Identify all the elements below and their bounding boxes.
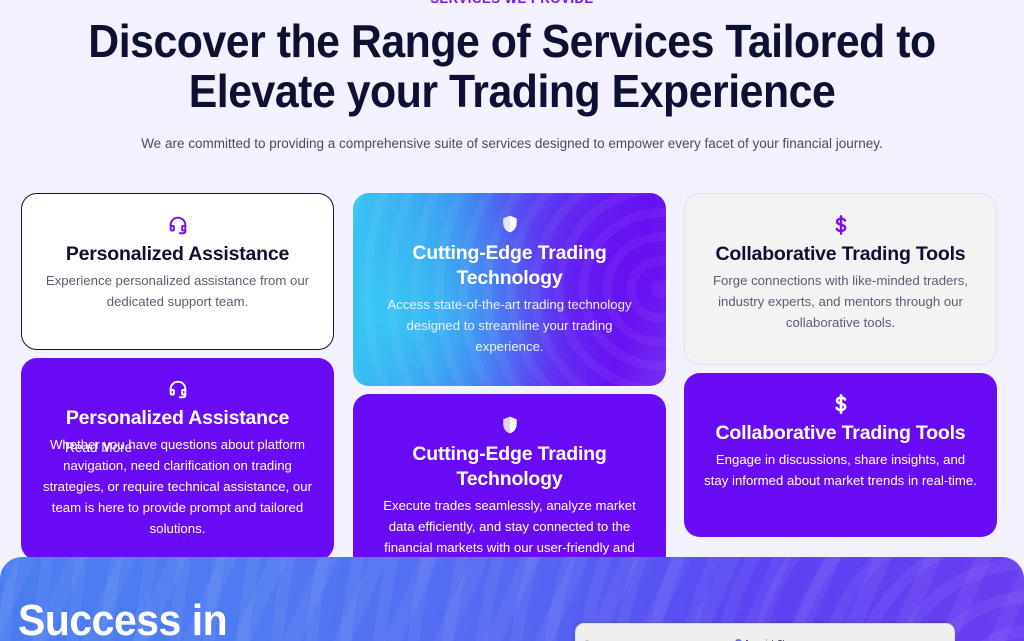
service-card-personalized-assistance-detail[interactable]: Personalized Assistance Whether you have… bbox=[21, 358, 334, 560]
card-body: Access state-of-the-art trading technolo… bbox=[371, 294, 648, 357]
service-card-cutting-edge-technology-featured[interactable]: Cutting-Edge Trading Technology Access s… bbox=[353, 193, 666, 386]
page-header: Discover the Range of Services Tailored … bbox=[0, 16, 1024, 153]
dollar-icon bbox=[703, 210, 978, 240]
services-card-grid: Personalized Assistance Experience perso… bbox=[0, 193, 1024, 593]
card-title: Personalized Assistance bbox=[39, 406, 316, 431]
card-title: Cutting-Edge Trading Technology bbox=[371, 442, 648, 492]
card-title: Cutting-Edge Trading Technology bbox=[371, 241, 648, 291]
headset-icon bbox=[40, 210, 315, 240]
headset-icon bbox=[39, 374, 316, 404]
service-card-cutting-edge-technology-detail[interactable]: Cutting-Edge Trading Technology Execute … bbox=[353, 394, 666, 579]
shield-icon bbox=[371, 410, 648, 440]
service-card-collaborative-tools-muted[interactable]: Collaborative Trading Tools Forge connec… bbox=[684, 193, 997, 365]
banner-title: Success in bbox=[18, 597, 227, 641]
services-column-3: Collaborative Trading Tools Forge connec… bbox=[684, 193, 997, 537]
service-card-personalized-assistance-outline[interactable]: Personalized Assistance Experience perso… bbox=[21, 193, 334, 350]
dollar-icon bbox=[702, 389, 979, 419]
services-column-2: Cutting-Edge Trading Technology Access s… bbox=[353, 193, 666, 579]
browser-mockup-preview: AssociateStore bbox=[575, 623, 955, 641]
card-title: Collaborative Trading Tools bbox=[703, 242, 978, 267]
section-eyebrow: Services We Provide bbox=[0, 0, 1024, 6]
shield-icon bbox=[371, 209, 648, 239]
services-column-1: Personalized Assistance Experience perso… bbox=[21, 193, 334, 560]
card-body: Engage in discussions, share insights, a… bbox=[702, 449, 979, 491]
card-title: Personalized Assistance bbox=[40, 242, 315, 267]
service-card-collaborative-tools-detail[interactable]: Collaborative Trading Tools Engage in di… bbox=[684, 373, 997, 537]
card-body: Forge connections with like-minded trade… bbox=[703, 270, 978, 333]
card-title: Collaborative Trading Tools bbox=[702, 421, 979, 446]
eyebrow-container: Services We Provide bbox=[0, 0, 1024, 6]
page-title: Discover the Range of Services Tailored … bbox=[36, 16, 988, 116]
page-subtitle: We are committed to providing a comprehe… bbox=[0, 135, 1024, 153]
read-more-link[interactable]: Read More bbox=[65, 439, 132, 457]
card-body: Experience personalized assistance from … bbox=[40, 270, 315, 312]
